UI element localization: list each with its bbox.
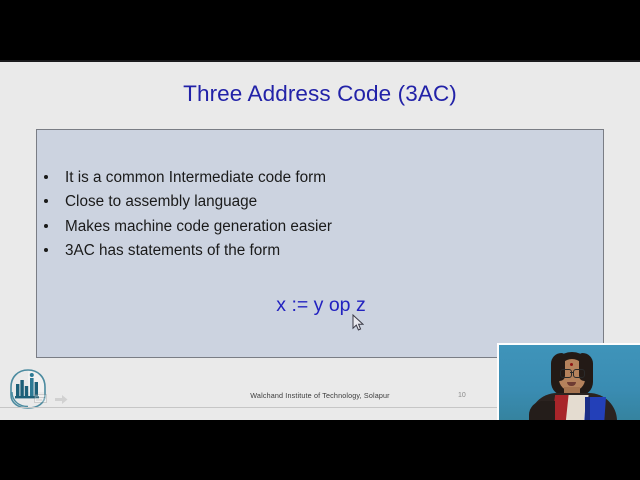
list-item: 3AC has statements of the form: [43, 243, 583, 258]
page-number: 10: [458, 392, 466, 399]
presenter-video-overlay[interactable]: [497, 343, 640, 420]
bullet-dot-icon: [44, 175, 48, 179]
mouse-pointer-icon: [352, 314, 364, 332]
formula-text: x := y op z: [37, 294, 605, 317]
list-item: It is a common Intermediate code form: [43, 170, 583, 185]
letterbox-bottom: [0, 420, 640, 480]
presenter-glasses-left: [560, 369, 572, 378]
page-title: Three Address Code (3AC): [0, 81, 640, 107]
presenter-saree-border: [585, 397, 590, 420]
bullet-dot-icon: [44, 199, 48, 203]
list-item-label: Makes machine code generation easier: [65, 218, 332, 235]
presenter-shoulder: [529, 401, 555, 420]
list-item-label: Close to assembly language: [65, 193, 257, 210]
presenter-glasses-right: [573, 369, 585, 378]
list-item-label: It is a common Intermediate code form: [65, 169, 326, 186]
slide-content-box: It is a common Intermediate code form Cl…: [36, 129, 604, 358]
wit-institutional-logo: [8, 368, 48, 410]
letterbox-top: [0, 0, 640, 62]
presenter-glasses-bridge: [570, 372, 573, 373]
video-player-frame: Three Address Code (3AC) It is a common …: [0, 0, 640, 480]
list-item: Makes machine code generation easier: [43, 219, 583, 234]
bullet-list: It is a common Intermediate code form Cl…: [43, 170, 583, 267]
list-item: Close to assembly language: [43, 194, 583, 209]
presenter-bindi: [570, 363, 573, 366]
bullet-dot-icon: [44, 224, 48, 228]
bullet-dot-icon: [44, 248, 48, 252]
letterbox-top-edge: [0, 60, 640, 62]
list-item-label: 3AC has statements of the form: [65, 242, 280, 259]
